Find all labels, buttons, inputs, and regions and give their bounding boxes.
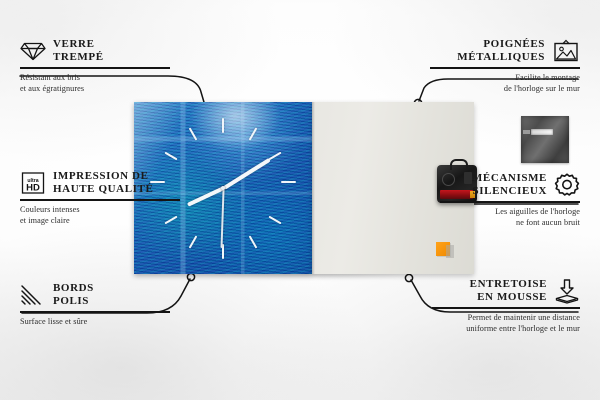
foam-spacer: [436, 242, 450, 256]
feature-header: BORDS POLIS: [20, 282, 170, 308]
metal-hanger: [521, 116, 569, 163]
feature-impression-haute-qualite: ultra HD IMPRESSION DE HAUTE QUALITÉ Cou…: [20, 170, 180, 226]
feature-title-line2: POLIS: [53, 295, 94, 308]
feature-description: Permet de maintenir une distance uniform…: [432, 312, 580, 334]
feature-poignees-metalliques: POIGNÉES MÉTALLIQUES Facilite le montage…: [430, 38, 580, 94]
feature-desc-line2: ne font aucun bruit: [440, 217, 580, 228]
feature-title-line1: ENTRETOISE: [432, 278, 547, 291]
feature-title: VERRE TREMPÉ: [53, 38, 104, 64]
feature-title-line2: MÉTALLIQUES: [430, 51, 545, 64]
feature-title: ENTRETOISE EN MOUSSE: [432, 278, 547, 304]
feature-header: MÉCANISME SILENCIEUX: [440, 172, 580, 198]
hanger-slot: [531, 129, 553, 135]
feature-divider: [20, 199, 180, 201]
feature-header: VERRE TREMPÉ: [20, 38, 170, 64]
feature-description: Les aiguilles de l'horloge ne font aucun…: [440, 206, 580, 228]
feature-desc-line1: Résistant aux bris: [20, 72, 170, 83]
feature-description: Surface lisse et sûre: [20, 316, 170, 327]
feature-divider: [20, 311, 170, 313]
feature-title-line2: EN MOUSSE: [432, 291, 547, 304]
feature-title: POIGNÉES MÉTALLIQUES: [430, 38, 545, 64]
feature-desc-line2: et aux égratignures: [20, 83, 170, 94]
infographic-canvas: VERRE TREMPÉ Résistant aux bris et aux é…: [0, 0, 600, 400]
feature-desc-line1: Les aiguilles de l'horloge: [440, 206, 580, 217]
feature-desc-line1: Couleurs intenses: [20, 204, 180, 215]
feature-desc-line2: uniforme entre l'horloge et le mur: [432, 323, 580, 334]
feature-desc-line1: Surface lisse et sûre: [20, 316, 170, 327]
tick-3: [281, 181, 296, 183]
feature-title-line2: TREMPÉ: [53, 51, 104, 64]
polished-edges-icon: [20, 284, 46, 306]
foam-spacer-icon: [554, 278, 580, 304]
feature-header: ENTRETOISE EN MOUSSE: [432, 278, 580, 304]
feature-description: Résistant aux bris et aux égratignures: [20, 72, 170, 94]
feature-title: BORDS POLIS: [53, 282, 94, 308]
feature-desc-line1: Permet de maintenir une distance: [432, 312, 580, 323]
feature-title-line1: VERRE: [53, 38, 104, 51]
feature-mecanisme-silencieux: MÉCANISME SILENCIEUX Les aiguilles de l'…: [440, 172, 580, 228]
clock-hub: [221, 186, 225, 190]
mechanism-hook: [450, 159, 468, 170]
feature-title-line1: MÉCANISME: [440, 172, 547, 185]
feature-divider: [440, 201, 580, 203]
feature-title: IMPRESSION DE HAUTE QUALITÉ: [53, 170, 153, 196]
feature-title-line1: BORDS: [53, 282, 94, 295]
feature-title: MÉCANISME SILENCIEUX: [440, 172, 547, 198]
feature-divider: [432, 307, 580, 309]
feature-desc-line2: de l'horloge sur le mur: [430, 83, 580, 94]
picture-hanger-icon: [552, 39, 580, 63]
feature-divider: [430, 67, 580, 69]
feature-description: Couleurs intenses et image claire: [20, 204, 180, 226]
feature-entretoise-en-mousse: ENTRETOISE EN MOUSSE Permet de maintenir…: [432, 278, 580, 334]
diamond-icon: [20, 40, 46, 62]
feature-title-line1: POIGNÉES: [430, 38, 545, 51]
feature-bords-polis: BORDS POLIS Surface lisse et sûre: [20, 282, 170, 327]
feature-title-line2: SILENCIEUX: [440, 185, 547, 198]
feature-header: ultra HD IMPRESSION DE HAUTE QUALITÉ: [20, 170, 180, 196]
product-image: [134, 102, 474, 274]
tick-12: [222, 118, 224, 133]
gear-icon: [554, 172, 580, 198]
ultra-hd-icon: ultra HD: [20, 171, 46, 195]
feature-desc-line2: et image claire: [20, 215, 180, 226]
product-shadow: [140, 272, 470, 288]
feature-title-line2: HAUTE QUALITÉ: [53, 183, 153, 196]
feature-title-line1: IMPRESSION DE: [53, 170, 153, 183]
ultra-hd-icon-big-label: HD: [26, 182, 40, 193]
feature-description: Facilite le montage de l'horloge sur le …: [430, 72, 580, 94]
feature-verre-trempe: VERRE TREMPÉ Résistant aux bris et aux é…: [20, 38, 170, 94]
feature-header: POIGNÉES MÉTALLIQUES: [430, 38, 580, 64]
feature-desc-line1: Facilite le montage: [430, 72, 580, 83]
feature-divider: [20, 67, 170, 69]
